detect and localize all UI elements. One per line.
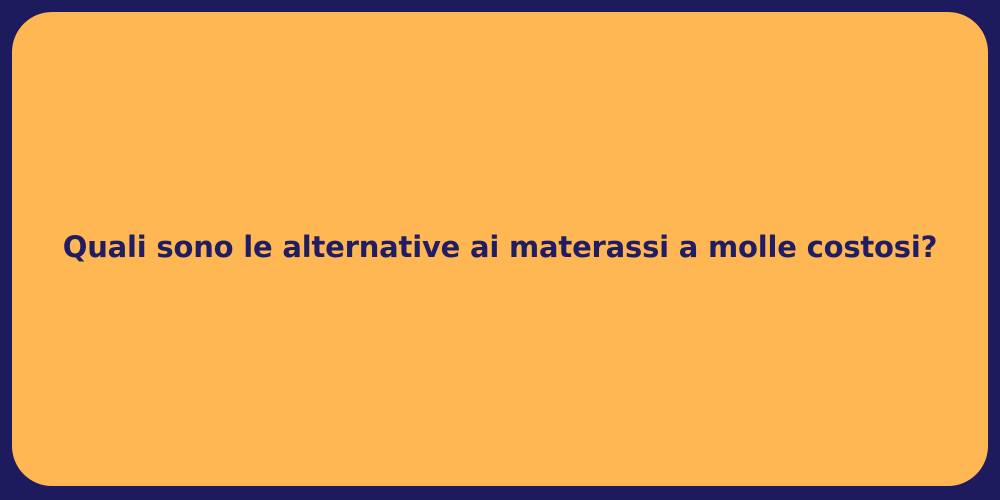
headline-text: Quali sono le alternative ai materassi a… bbox=[60, 229, 940, 265]
headline-container: Quali sono le alternative ai materassi a… bbox=[12, 229, 988, 265]
headline-card-panel: Quali sono le alternative ai materassi a… bbox=[12, 12, 988, 486]
banner-root: Quali sono le alternative ai materassi a… bbox=[0, 0, 1000, 500]
